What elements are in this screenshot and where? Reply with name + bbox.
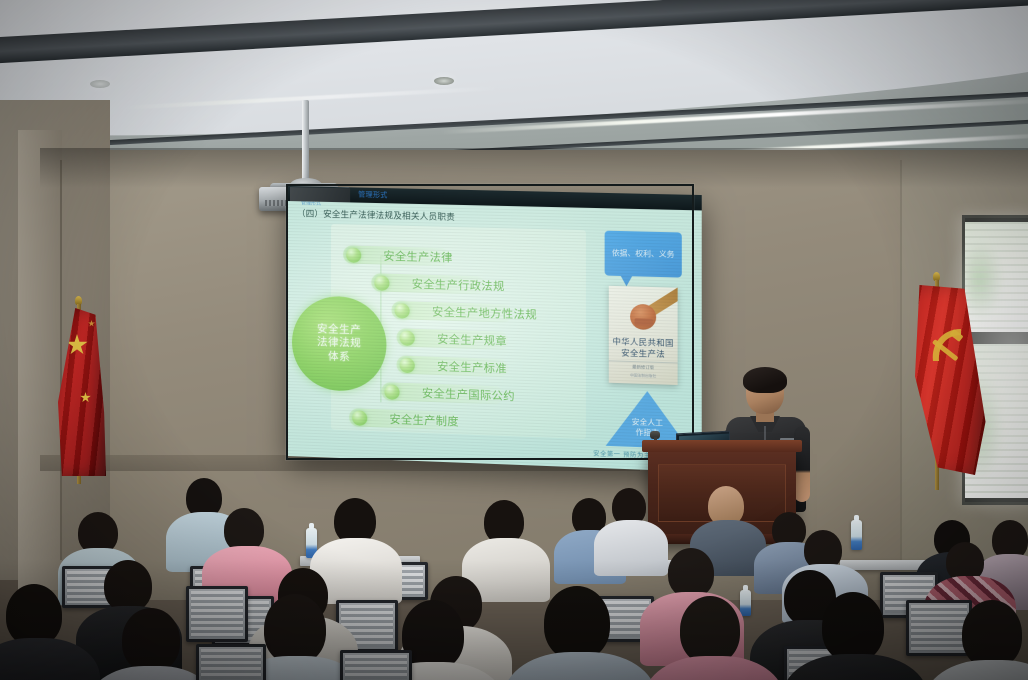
bullet-dot-icon <box>400 330 415 346</box>
bullet-label: 安全生产法律 <box>383 247 452 265</box>
water-bottle <box>740 590 751 616</box>
law-book-image: 中华人民共和国 安全生产法 最新修订版 中国法制出版社 <box>609 286 678 385</box>
chair-back <box>340 650 412 680</box>
lectern-top-edge <box>642 440 802 452</box>
book-publisher: 中国法制出版社 <box>609 373 678 380</box>
topbar-title-text: 管理形式 <box>358 190 387 201</box>
bullet-dot-icon <box>395 303 410 319</box>
audience-head <box>6 584 62 646</box>
bullet-dot-icon <box>374 275 389 291</box>
recessed-downlight-icon <box>90 80 110 88</box>
slide-breadcrumb-fragment: 管理形式 <box>301 201 321 207</box>
audience-shoulders <box>504 652 656 680</box>
projector-mount-pole <box>302 100 309 184</box>
presenter-hair <box>743 367 787 393</box>
book-title-line-2: 安全生产法 <box>609 347 678 360</box>
wall-top-shadow <box>40 148 1028 188</box>
hub-line-3: 体系 <box>328 350 350 364</box>
bullet-label: 安全生产标准 <box>437 358 507 376</box>
audience-head <box>104 560 152 612</box>
window-pane-top <box>965 222 1028 332</box>
bullet-label: 安全生产规章 <box>437 331 507 349</box>
slide-speech-bubble: 依据、权利、义务 <box>605 231 682 278</box>
speech-bubble-tail <box>620 275 632 287</box>
national-emblem-icon <box>630 304 656 330</box>
bullet-dot-icon <box>400 357 415 373</box>
bullet-label: 安全生产地方性法规 <box>432 303 537 322</box>
audience-head <box>668 548 714 598</box>
audience-head <box>122 608 180 672</box>
wall-column <box>18 130 62 590</box>
bullet-dot-icon <box>384 384 399 400</box>
audience-head <box>822 592 884 662</box>
hammer-sickle-icon <box>929 321 971 373</box>
bullet-dot-icon <box>346 247 361 262</box>
chair-back <box>186 586 248 642</box>
wall-seam <box>900 160 902 560</box>
bullet-label: 安全生产制度 <box>389 411 458 430</box>
bullet-label: 安全生产行政法规 <box>412 275 505 294</box>
water-bottle <box>851 520 862 550</box>
recessed-downlight-icon <box>434 77 454 85</box>
slide-heading: （四）安全生产法律法规及相关人员职责 <box>297 207 455 223</box>
audience-shoulders <box>594 520 668 576</box>
hub-line-2: 法律法规 <box>317 336 361 351</box>
audience-head <box>264 594 326 664</box>
wall-seam <box>60 160 62 560</box>
audience-shoulders <box>924 660 1028 680</box>
bullet-label: 安全生产国际公约 <box>422 385 515 404</box>
presenter-right-arm <box>794 426 810 502</box>
book-subtitle: 最新修订版 <box>609 360 678 371</box>
audience-head <box>680 596 740 664</box>
powerpoint-slide: 管理形式 （四）安全生产法律法规及相关人员职责 安全生产 法律法规 体系 安全生… <box>288 201 702 472</box>
bullet-dot-icon <box>352 410 367 426</box>
window-blinds <box>965 222 1028 332</box>
projection-screen: 管理形式 管理形式 （四）安全生产法律法规及相关人员职责 安全生产 法律法规 体… <box>288 186 702 472</box>
audience-head <box>962 600 1022 668</box>
chair-back <box>196 644 266 680</box>
speech-bubble-text: 依据、权利、义务 <box>608 248 679 260</box>
conference-room-photo: 管理形式 管理形式 （四）安全生产法律法规及相关人员职责 安全生产 法律法规 体… <box>0 0 1028 680</box>
audience-head <box>544 586 610 660</box>
